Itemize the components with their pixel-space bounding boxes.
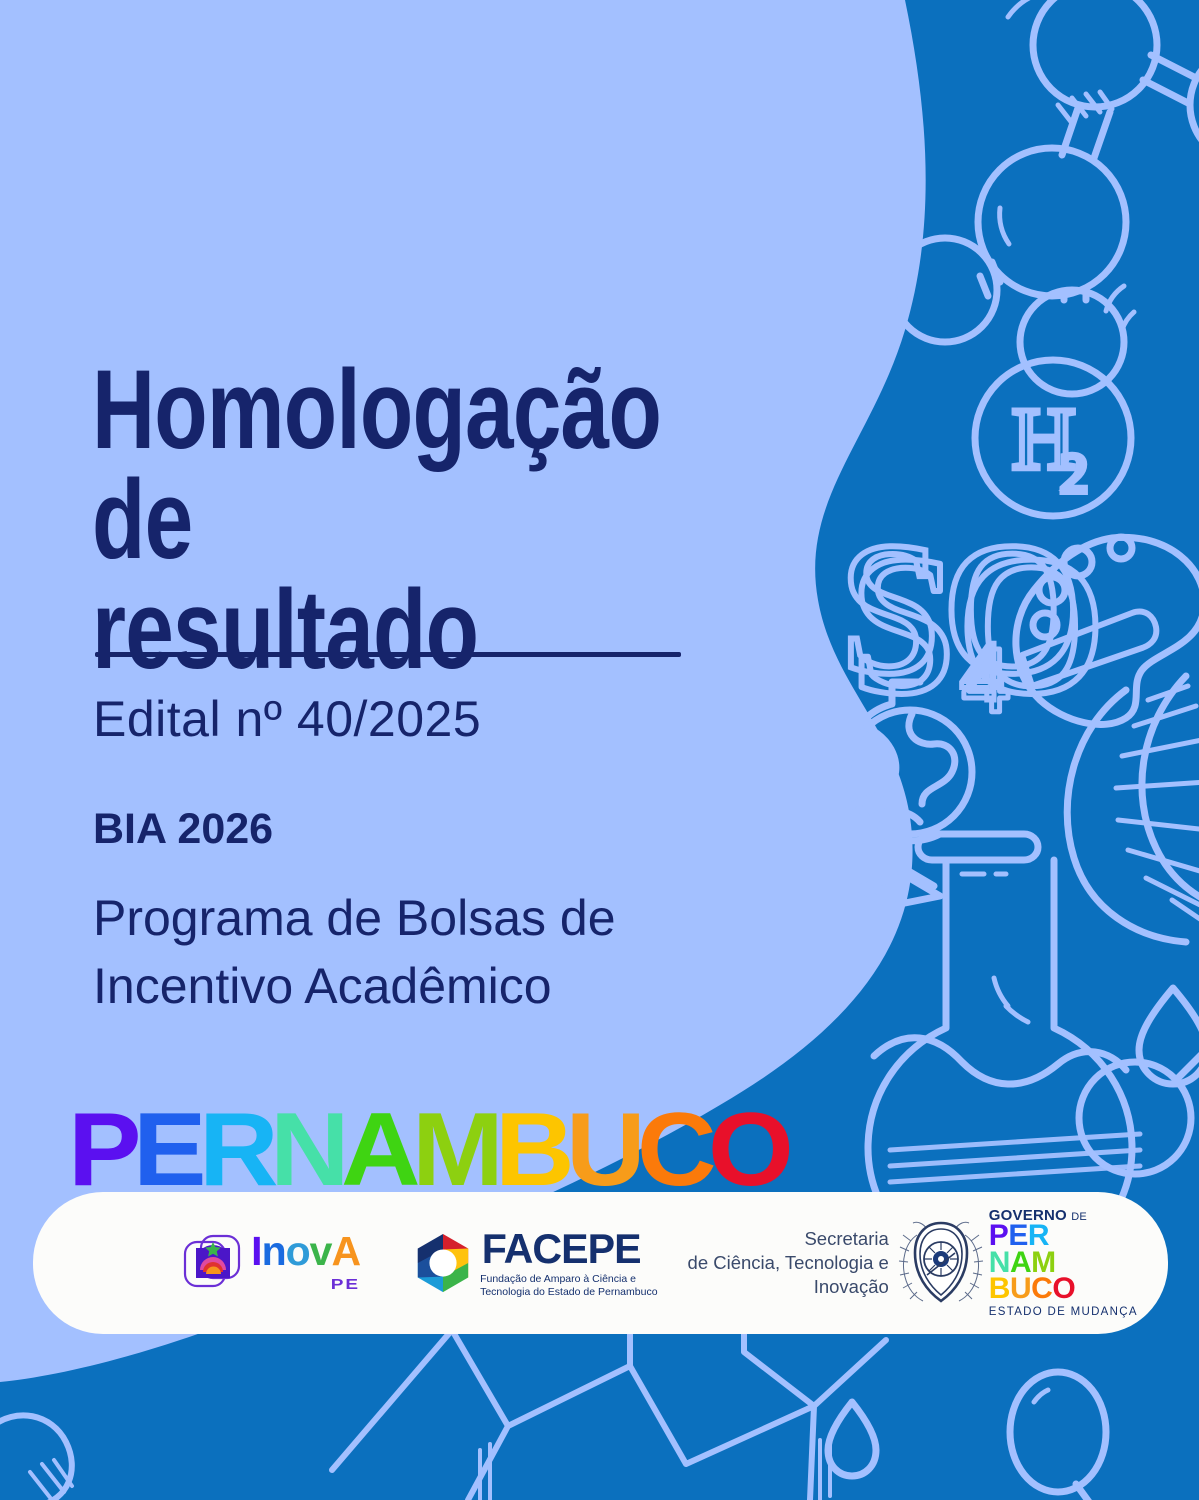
inova-wordmark: InovA: [251, 1231, 360, 1272]
inova-letter-2: o: [286, 1228, 310, 1274]
wordmark-letter-p-0: P: [68, 1098, 137, 1202]
facepe-hexagon-icon: [412, 1232, 474, 1294]
page-title: Homologação de resultado: [92, 355, 700, 684]
poster-canvas: SO 4: [0, 0, 1199, 1500]
wordmark-letter-a-4: A: [341, 1098, 416, 1202]
program-name: Programa de Bolsas de Incentivo Acadêmic…: [93, 885, 853, 1020]
wordmark-letter-n-3: N: [270, 1098, 345, 1202]
coat-of-arms-icon: [897, 1217, 985, 1309]
wordmark-letter-u-7: U: [566, 1098, 641, 1202]
governo-letter-2-3: O: [1052, 1272, 1075, 1305]
inova-letter-1: n: [262, 1228, 286, 1274]
inova-mark-icon: [183, 1232, 243, 1294]
governo-letter-2-0: B: [989, 1272, 1010, 1305]
logo-facepe: FACEPE Fundação de Amparo à Ciência e Te…: [412, 1228, 657, 1297]
facepe-wordmark: FACEPE: [482, 1228, 656, 1270]
inova-letter-4: A: [331, 1228, 360, 1274]
governo-color-rows: PERNAMBUCO: [989, 1223, 1138, 1302]
footer-logo-bar: InovA PE FACEPE Fundação de Amparo à: [33, 1192, 1168, 1334]
inova-pe-label: PE: [251, 1276, 360, 1294]
governo-letter-2-2: C: [1031, 1272, 1052, 1305]
program-code: BIA 2026: [93, 805, 273, 854]
wordmark-letter-r-2: R: [199, 1098, 274, 1202]
title-divider: [95, 652, 681, 657]
facepe-tagline: Fundação de Amparo à Ciência e Tecnologi…: [480, 1273, 657, 1297]
edital-number: Edital nº 40/2025: [93, 690, 481, 748]
wordmark-letter-m-5: M: [412, 1098, 500, 1202]
governo-bottom-label: ESTADO DE MUDANÇA: [989, 1306, 1138, 1318]
logo-governo-pernambuco: GOVERNO DE PERNAMBUCO ESTADO DE MUDANÇA: [897, 1208, 1138, 1317]
wordmark-letter-c-8: C: [637, 1098, 712, 1202]
inova-letter-3: v: [310, 1228, 332, 1274]
wordmark-letter-e-1: E: [133, 1098, 202, 1202]
wordmark-letter-b-6: B: [495, 1098, 570, 1202]
governo-de-label: DE: [1071, 1211, 1087, 1223]
logo-inova-pe: InovA PE: [183, 1231, 360, 1296]
inova-letter-0: I: [251, 1228, 261, 1274]
governo-row-2: BUCO: [989, 1276, 1138, 1302]
governo-letter-2-1: U: [1010, 1272, 1031, 1305]
secretaria-label: Secretaria de Ciência, Tecnologia e Inov…: [688, 1227, 889, 1299]
wordmark-letter-o-9: O: [708, 1098, 790, 1202]
pernambuco-wordmark: PERNAMBUCO: [68, 1098, 785, 1202]
